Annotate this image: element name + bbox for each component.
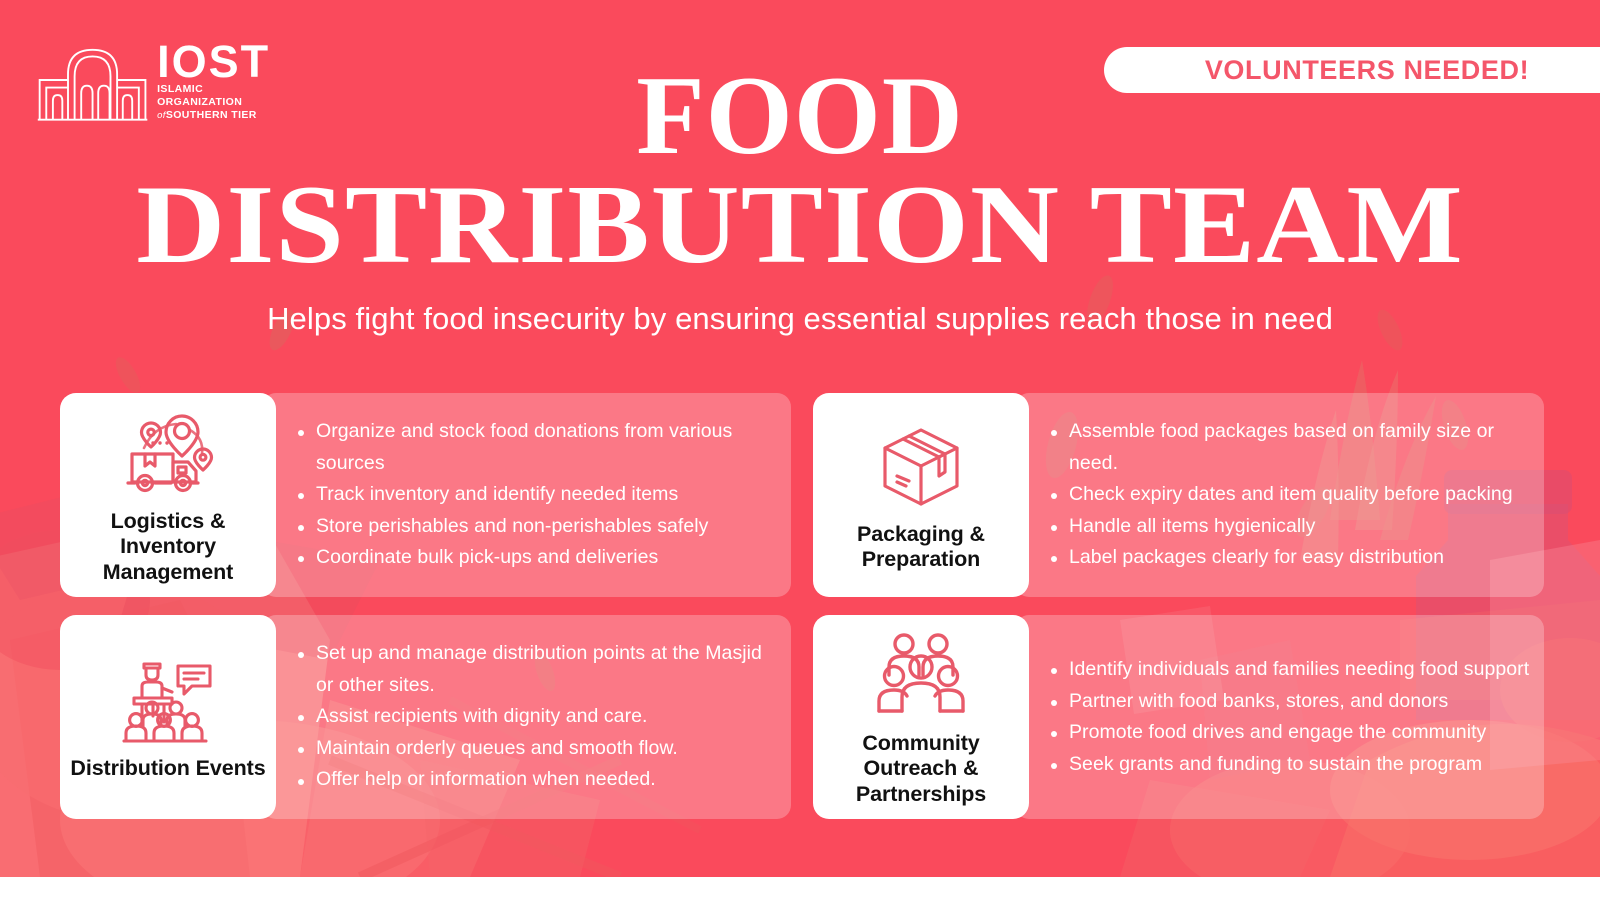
- card-title: Community Outreach & Partnerships: [819, 731, 1023, 807]
- card-title: Logistics & Inventory Management: [66, 509, 270, 585]
- icon-card[interactable]: Packaging & Preparation: [813, 393, 1029, 597]
- list-item: Partner with food banks, stores, and don…: [1051, 686, 1530, 718]
- page-title-line-1: FOOD: [0, 62, 1600, 171]
- list-item: Promote food drives and engage the commu…: [1051, 717, 1530, 749]
- icon-card[interactable]: Community Outreach & Partnerships: [813, 615, 1029, 819]
- list-item: Seek grants and funding to sustain the p…: [1051, 749, 1530, 781]
- bullet-list: Organize and stock food donations from v…: [298, 416, 777, 574]
- list-item: Label packages clearly for easy distribu…: [1051, 542, 1530, 574]
- bullet-panel: Identify individuals and families needin…: [1015, 615, 1544, 819]
- list-item: Offer help or information when needed.: [298, 764, 777, 796]
- icon-wrap: [120, 652, 216, 748]
- card-title: Packaging & Preparation: [819, 522, 1023, 573]
- card-packaging-preparation: Packaging & Preparation Assemble food pa…: [813, 393, 1544, 597]
- card-logistics-inventory-management: Logistics & Inventory Management Organiz…: [60, 393, 791, 597]
- icon-wrap: [875, 418, 967, 514]
- icon-wrap: [120, 405, 216, 501]
- icon-wrap: [875, 627, 967, 723]
- list-item: Track inventory and identify needed item…: [298, 479, 777, 511]
- card-distribution-events: Distribution Events Set up and manage di…: [60, 615, 791, 819]
- bullet-list: Identify individuals and families needin…: [1051, 654, 1530, 780]
- list-item: Handle all items hygienically: [1051, 511, 1530, 543]
- list-item: Assemble food packages based on family s…: [1051, 416, 1530, 479]
- page-subtitle: Helps fight food insecurity by ensuring …: [0, 301, 1600, 337]
- icon-card[interactable]: Logistics & Inventory Management: [60, 393, 276, 597]
- bullet-list: Assemble food packages based on family s…: [1051, 416, 1530, 574]
- list-item: Store perishables and non-perishables sa…: [298, 511, 777, 543]
- list-item: Identify individuals and families needin…: [1051, 654, 1530, 686]
- list-item: Set up and manage distribution points at…: [298, 638, 777, 701]
- bullet-panel: Set up and manage distribution points at…: [262, 615, 791, 819]
- cards-grid: Logistics & Inventory Management Organiz…: [60, 393, 1544, 811]
- page-title-line-2: DISTRIBUTION TEAM: [0, 171, 1600, 280]
- bullet-panel: Assemble food packages based on family s…: [1015, 393, 1544, 597]
- bullet-panel: Organize and stock food donations from v…: [262, 393, 791, 597]
- bottom-white-strip: [0, 877, 1600, 900]
- list-item: Maintain orderly queues and smooth flow.: [298, 733, 777, 765]
- icon-card[interactable]: Distribution Events: [60, 615, 276, 819]
- card-title: Distribution Events: [70, 756, 265, 781]
- list-item: Organize and stock food donations from v…: [298, 416, 777, 479]
- list-item: Coordinate bulk pick-ups and deliveries: [298, 542, 777, 574]
- title-block: FOOD DISTRIBUTION TEAM Helps fight food …: [0, 62, 1600, 337]
- cardboard-box-package-icon: [875, 420, 967, 512]
- delivery-truck-map-pins-icon: [120, 410, 216, 496]
- list-item: Check expiry dates and item quality befo…: [1051, 479, 1530, 511]
- group-of-people-icon: [875, 631, 967, 719]
- podium-speaker-audience-icon: [120, 656, 216, 744]
- list-item: Assist recipients with dignity and care.: [298, 701, 777, 733]
- card-community-outreach-partnerships: Community Outreach & Partnerships Identi…: [813, 615, 1544, 819]
- bullet-list: Set up and manage distribution points at…: [298, 638, 777, 796]
- poster-canvas: IOST ISLAMIC ORGANIZATION ofSOUTHERN TIE…: [0, 0, 1600, 877]
